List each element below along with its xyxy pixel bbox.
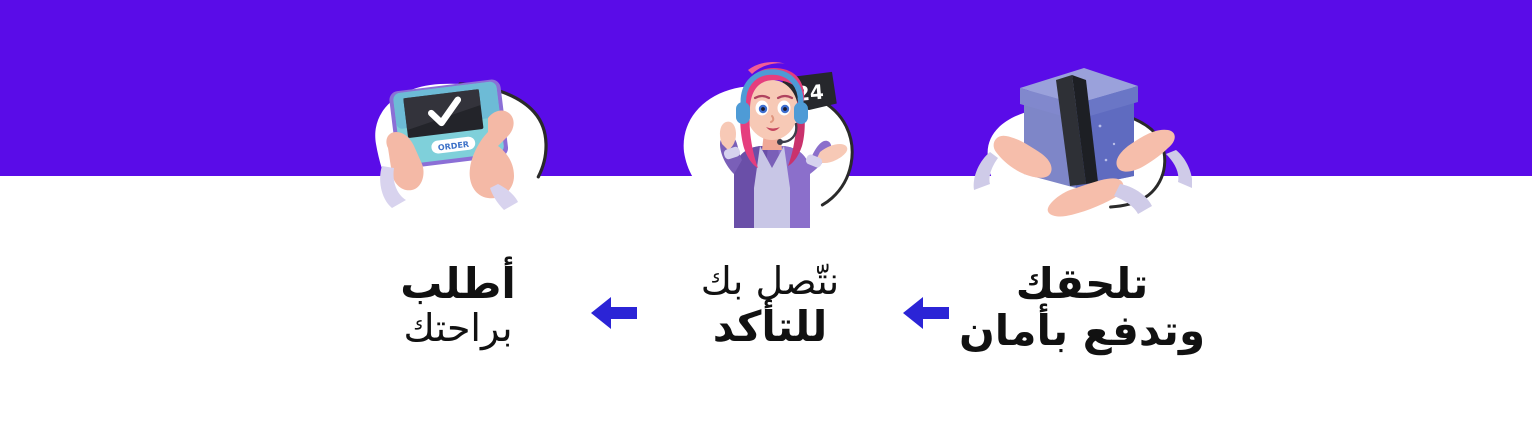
steps-row: ORDER أطلب براحتك [330, 0, 1210, 433]
step-order-caption-line1: أطلب [400, 260, 516, 307]
steps-banner: ORDER أطلب براحتك [0, 0, 1532, 433]
step-deliver-caption: تلحقك وتدفع بأمان [959, 260, 1205, 354]
arrow-right-icon [895, 0, 957, 433]
step-deliver: تلحقك وتدفع بأمان [957, 0, 1207, 433]
step-confirm-caption: نتّصل بك للتأكد [701, 260, 839, 350]
arrow-right-icon [583, 0, 645, 433]
step-order-caption: أطلب براحتك [400, 260, 516, 350]
hands-delivering-gift-box-illustration [972, 48, 1192, 238]
hands-holding-tablet-order-illustration: ORDER [348, 48, 568, 238]
step-confirm: 24 [645, 0, 895, 433]
step-deliver-caption-line2: وتدفع بأمان [959, 307, 1205, 354]
support-agent-headset-illustration: 24 [660, 48, 880, 238]
step-order-caption-line2: براحتك [400, 307, 516, 350]
step-confirm-caption-line2: للتأكد [701, 303, 839, 350]
step-deliver-caption-line1: تلحقك [959, 260, 1205, 307]
step-confirm-caption-line1: نتّصل بك [701, 260, 839, 303]
step-order: ORDER أطلب براحتك [333, 0, 583, 433]
